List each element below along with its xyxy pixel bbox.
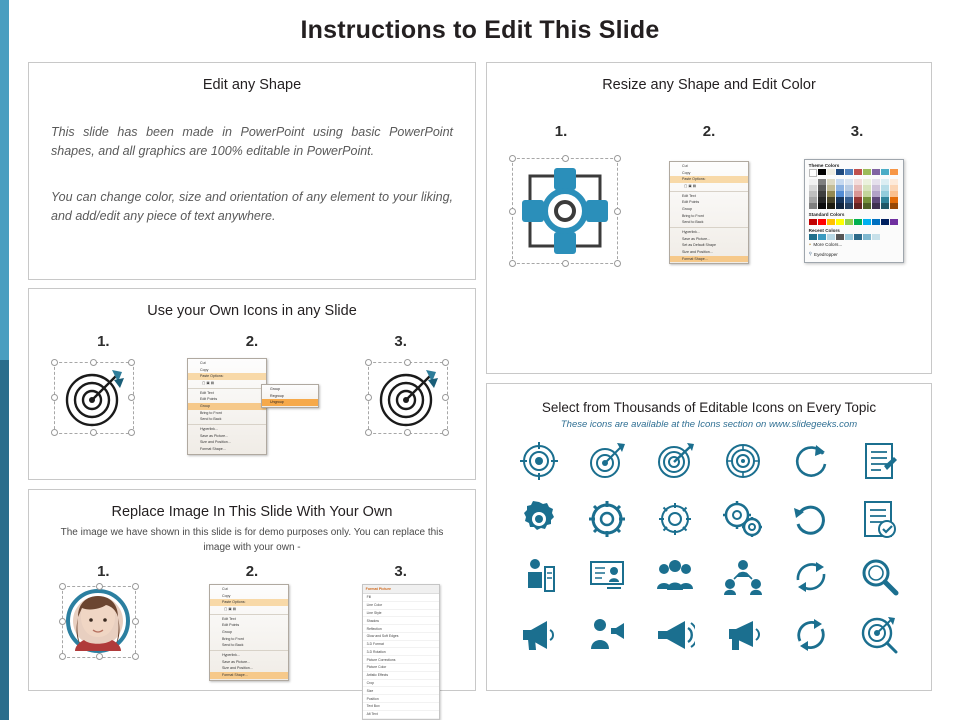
panel-edit-shape-title: Edit any Shape [29,77,475,93]
color-swatch[interactable] [872,203,880,209]
document-list-icon [861,441,897,481]
replace-image-thumb-2[interactable]: Cut Copy Paste Options: ▢ ▣ ▤ Edit Text … [205,584,295,676]
resize-handle[interactable] [365,429,372,436]
cycle-arrows-icon [792,558,830,596]
refresh-circular-icon [792,500,830,538]
panel-own-icons-title: Use your Own Icons in any Slide [29,303,475,319]
menu-separator [670,191,748,192]
context-menu-item[interactable]: Hyperlink... [670,229,748,236]
icon-cell[interactable] [641,610,709,660]
bullhorn-icon [723,617,763,653]
standard-colors-label: Standard Colors [805,209,903,219]
icon-grid [487,430,931,660]
context-menu-item[interactable]: Set as Default Shape [670,242,748,249]
context-menu-item[interactable]: Paste Options: [670,176,748,183]
format-picture-line[interactable]: Text Box [363,703,439,711]
color-swatch[interactable] [809,169,817,177]
color-swatch[interactable] [818,219,826,225]
color-swatch[interactable] [881,203,889,209]
context-menu-item[interactable]: Bring to Front [188,410,266,417]
target-arrow-icon [587,441,627,481]
color-swatch[interactable] [836,169,844,175]
resize-shape-step-1: 1. [555,123,568,140]
selection-box [54,362,134,434]
gear-outline-icon [587,499,627,539]
page-title: Instructions to Edit This Slide [0,16,960,45]
format-picture-line[interactable]: Artistic Effects [363,672,439,680]
icon-cell[interactable] [845,610,913,660]
color-swatch[interactable] [818,203,826,209]
color-swatch[interactable] [854,203,862,209]
more-colors-row[interactable]: ◓ More Colors... [805,240,903,249]
menu-separator [210,614,288,615]
color-swatch[interactable] [818,234,826,240]
megaphone-icon [519,617,559,653]
own-icons-thumbnails: Cut Copy Paste Options: ▢ ▣ ▤ Edit Text … [29,358,475,450]
recent-colors-label: Recent Colors [805,225,903,235]
context-menu-item[interactable]: Save as Picture... [210,659,288,666]
gears-pair-icon [722,499,764,539]
resize-handle[interactable] [442,359,449,366]
submenu-item[interactable]: Regroup [262,393,318,400]
icon-cell[interactable] [505,436,573,486]
context-menu-item[interactable]: Send to Back [670,219,748,226]
context-menu-item[interactable]: Send to Back [210,642,288,649]
context-menu-item[interactable]: Size and Position... [210,665,288,672]
context-menu-item[interactable]: Hyperlink... [188,426,266,433]
context-menu-item[interactable]: Cut [210,586,288,593]
target-search-icon [859,615,899,655]
eyedropper-label: Eyedropper [814,252,838,257]
resize-shape-step-3: 3. [851,123,864,140]
color-swatch[interactable] [836,203,844,209]
target-dart-icon [655,441,695,481]
target-crosshair-icon [519,441,559,481]
color-swatch[interactable] [809,203,817,209]
icon-cell[interactable] [709,610,777,660]
context-menu-item[interactable]: Size and Position... [670,249,748,256]
color-swatch[interactable] [890,219,898,225]
format-picture-line[interactable]: Picture Corrections [363,656,439,664]
panel-resize-shape: Resize any Shape and Edit Color 1. 2. 3. [486,62,932,374]
icon-cell[interactable] [777,610,845,660]
own-icons-step-2: 2. [246,333,259,350]
resize-shape-thumbnails: Cut Copy Paste Options: ▢ ▣ ▤ Edit Text … [487,156,931,266]
icon-cell[interactable] [573,610,641,660]
menu-separator [188,388,266,389]
context-menu-item[interactable]: Bring to Front [210,636,288,643]
person-podium-icon [521,557,557,597]
own-icons-thumb-3[interactable] [368,358,450,440]
panel-icon-library: Select from Thousands of Editable Icons … [486,383,932,691]
format-picture-line[interactable]: Picture Color [363,664,439,672]
gear-thin-icon [655,499,695,539]
color-swatch[interactable] [890,169,898,175]
panel-resize-shape-title: Resize any Shape and Edit Color [487,77,931,93]
replace-image-step-numbers: 1. 2. 3. [29,563,475,580]
color-swatch[interactable] [827,203,835,209]
replace-image-note: The image we have shown in this slide is… [49,526,455,555]
format-picture-line[interactable]: Shadow [363,617,439,625]
resize-shape-thumb-1[interactable] [510,156,620,266]
gear-solid-icon [519,499,559,539]
color-swatch[interactable] [881,219,889,225]
paste-options-icons[interactable]: ▢ ▣ ▤ [670,183,748,190]
resize-handle[interactable] [442,394,449,401]
refresh-arrow-icon [792,442,830,480]
target-rings-icon [723,441,763,481]
team-network-icon [722,557,764,597]
replace-image-thumb-1[interactable] [62,584,138,662]
color-picker[interactable]: Theme Colors [804,159,904,263]
replace-image-step-3: 3. [394,563,407,580]
context-menu-item[interactable]: Cut [670,163,748,170]
color-swatch[interactable] [881,169,889,175]
icon-cell[interactable] [641,436,709,486]
icon-cell[interactable] [505,610,573,660]
panel-replace-image-title: Replace Image In This Slide With Your Ow… [29,504,475,520]
palette-icon: ◓ [809,242,812,247]
paste-options-icons[interactable]: ▢ ▣ ▤ [210,606,288,613]
color-swatch[interactable] [854,219,862,225]
color-swatch[interactable] [809,234,817,240]
selection-box [368,362,448,434]
replace-image-step-1: 1. [97,563,110,580]
loudspeaker-icon [655,617,695,653]
format-picture-line[interactable]: 3-D Rotation [363,648,439,656]
color-swatch[interactable] [890,203,898,209]
color-swatch[interactable] [836,219,844,225]
color-swatch[interactable] [845,219,853,225]
icon-cell[interactable] [573,552,641,602]
context-menu-item[interactable]: Send to Back [188,416,266,423]
menu-separator [210,650,288,651]
magnifier-icon [859,557,899,597]
color-swatch[interactable] [854,234,862,240]
menu-separator [670,227,748,228]
resize-handle[interactable] [442,429,449,436]
format-picture-line[interactable]: Alt Text [363,711,439,719]
selection-box [512,158,618,264]
submenu-item[interactable]: Ungroup [262,399,318,406]
context-menu-item[interactable]: Copy [188,367,266,374]
replace-image-step-2: 2. [246,563,259,580]
icon-cell[interactable] [777,494,845,544]
context-menu-item[interactable]: Paste Options: [210,599,288,606]
context-menu-item[interactable]: Cut [188,360,266,367]
color-swatch[interactable] [818,169,826,175]
resize-shape-thumb-3[interactable]: Theme Colors [804,159,908,263]
color-swatch[interactable] [854,169,862,175]
resize-handle[interactable] [404,359,411,366]
submenu-item[interactable]: Group [262,386,318,393]
slide-root: Instructions to Edit This Slide Edit any… [0,0,960,720]
color-swatch[interactable] [827,234,835,240]
context-menu-item[interactable]: Edit Points [670,199,748,206]
icon-cell[interactable] [709,436,777,486]
context-menu-item[interactable]: Group [670,206,748,213]
own-icons-step-numbers: 1. 2. 3. [29,333,475,350]
eyedropper-row[interactable]: ⚲ Eyedropper [805,249,903,259]
edit-shape-paragraph-2: You can change color, size and orientati… [51,188,453,227]
icon-cell[interactable] [709,552,777,602]
icon-library-subtitle: These icons are available at the Icons s… [487,419,931,430]
resize-shape-step-numbers: 1. 2. 3. [487,123,931,140]
context-menu-item[interactable]: Format Shape... [188,446,266,453]
context-menu-item[interactable]: Format Shape... [210,672,288,679]
icon-cell[interactable] [573,494,641,544]
context-menu-item[interactable]: Edit Points [210,622,288,629]
context-menu-item[interactable]: Edit Text [670,193,748,200]
theme-colors-row[interactable] [805,169,903,177]
accent-bar-bottom [0,360,9,720]
context-menu[interactable]: Cut Copy Paste Options: ▢ ▣ ▤ Edit Text … [669,161,749,264]
own-icons-step-1: 1. [97,333,110,350]
icon-cell[interactable] [777,436,845,486]
edit-shape-paragraph-1: This slide has been made in PowerPoint u… [51,123,453,162]
panel-icon-library-title: Select from Thousands of Editable Icons … [487,400,931,415]
context-menu-item[interactable]: Hyperlink... [210,652,288,659]
context-menu-item[interactable]: Bring to Front [670,213,748,220]
color-swatch[interactable] [845,234,853,240]
own-icons-step-3: 3. [394,333,407,350]
context-menu-item[interactable]: Copy [670,170,748,177]
context-menu-item[interactable]: Edit Text [188,390,266,397]
color-swatch[interactable] [845,203,853,209]
own-icons-thumb-1[interactable] [54,358,136,440]
color-swatch[interactable] [863,219,871,225]
color-swatch[interactable] [827,169,835,175]
icon-cell[interactable] [505,494,573,544]
replace-image-thumbnails: Cut Copy Paste Options: ▢ ▣ ▤ Edit Text … [29,584,475,676]
context-menu[interactable]: Cut Copy Paste Options: ▢ ▣ ▤ Edit Text … [187,358,267,455]
color-swatch[interactable] [809,219,817,225]
context-menu-item[interactable]: Save as Picture... [670,236,748,243]
resize-handle[interactable] [365,394,372,401]
format-picture-line[interactable]: Position [363,695,439,703]
context-menu-item[interactable]: Group [210,629,288,636]
format-picture-line[interactable]: Glow and Soft Edges [363,633,439,641]
resize-shape-step-2: 2. [703,123,716,140]
format-picture-line[interactable]: Line Color [363,602,439,610]
paste-options-icons[interactable]: ▢ ▣ ▤ [188,380,266,387]
format-picture-line[interactable]: Line Style [363,610,439,618]
format-picture-line[interactable]: Crop [363,680,439,688]
own-icons-thumb-2[interactable]: Cut Copy Paste Options: ▢ ▣ ▤ Edit Text … [187,358,317,450]
icon-cell[interactable] [641,494,709,544]
format-picture-line[interactable]: Size [363,687,439,695]
theme-tints-row-5[interactable] [805,203,903,209]
color-swatch[interactable] [863,234,871,240]
icon-cell[interactable] [845,552,913,602]
color-swatch[interactable] [863,203,871,209]
panel-replace-image: Replace Image In This Slide With Your Ow… [28,489,476,691]
icon-cell[interactable] [505,552,573,602]
color-swatch[interactable] [863,169,871,175]
format-picture-line[interactable]: Reflection [363,625,439,633]
icon-cell[interactable] [641,552,709,602]
color-swatch[interactable] [872,234,880,240]
replace-image-thumb-3[interactable]: Format Picture Fill Line Color Line Styl… [362,584,442,676]
panel-edit-shape: Edit any Shape This slide has been made … [28,62,476,280]
context-menu-item[interactable]: Edit Text [210,616,288,623]
color-swatch[interactable] [872,219,880,225]
person-announce-icon [587,616,627,654]
context-menu[interactable]: Cut Copy Paste Options: ▢ ▣ ▤ Edit Text … [209,584,289,681]
panel-own-icons: Use your Own Icons in any Slide 1. 2. 3. [28,288,476,480]
eyedropper-icon: ⚲ [809,251,812,257]
icon-cell[interactable] [777,552,845,602]
context-menu-item[interactable]: Copy [210,593,288,600]
format-picture-pane[interactable]: Format Picture Fill Line Color Line Styl… [362,584,440,720]
context-menu-item[interactable]: Save as Picture... [188,433,266,440]
icon-cell[interactable] [709,494,777,544]
icon-cell[interactable] [845,494,913,544]
resize-shape-thumb-2[interactable]: Cut Copy Paste Options: ▢ ▣ ▤ Edit Text … [667,161,757,261]
people-group-icon [654,557,696,597]
menu-separator [188,424,266,425]
group-submenu[interactable]: Group Regroup Ungroup [261,384,319,408]
color-swatch[interactable] [827,219,835,225]
color-swatch[interactable] [872,169,880,175]
context-menu-item[interactable]: Format Shape... [670,256,748,263]
recycle-arrows-icon [792,616,830,654]
format-picture-line[interactable]: 3-D Format [363,641,439,649]
checklist-document-icon [861,499,897,539]
resize-handle[interactable] [404,429,411,436]
theme-colors-label: Theme Colors [805,160,903,169]
more-colors-label: More Colors... [813,242,842,247]
icon-cell[interactable] [845,436,913,486]
icon-cell[interactable] [573,436,641,486]
resize-handle[interactable] [365,359,372,366]
context-menu-item[interactable]: Paste Options: [188,373,266,380]
selection-box [62,586,136,658]
format-picture-title: Format Picture [363,585,439,594]
format-picture-line[interactable]: Fill [363,594,439,602]
standard-colors-row[interactable] [805,219,903,225]
context-menu-item[interactable]: Edit Points [188,396,266,403]
context-menu-item[interactable]: Group [188,403,266,410]
color-swatch[interactable] [836,234,844,240]
context-menu-item[interactable]: Size and Position... [188,439,266,446]
presentation-person-icon [587,557,627,597]
color-swatch[interactable] [845,169,853,175]
